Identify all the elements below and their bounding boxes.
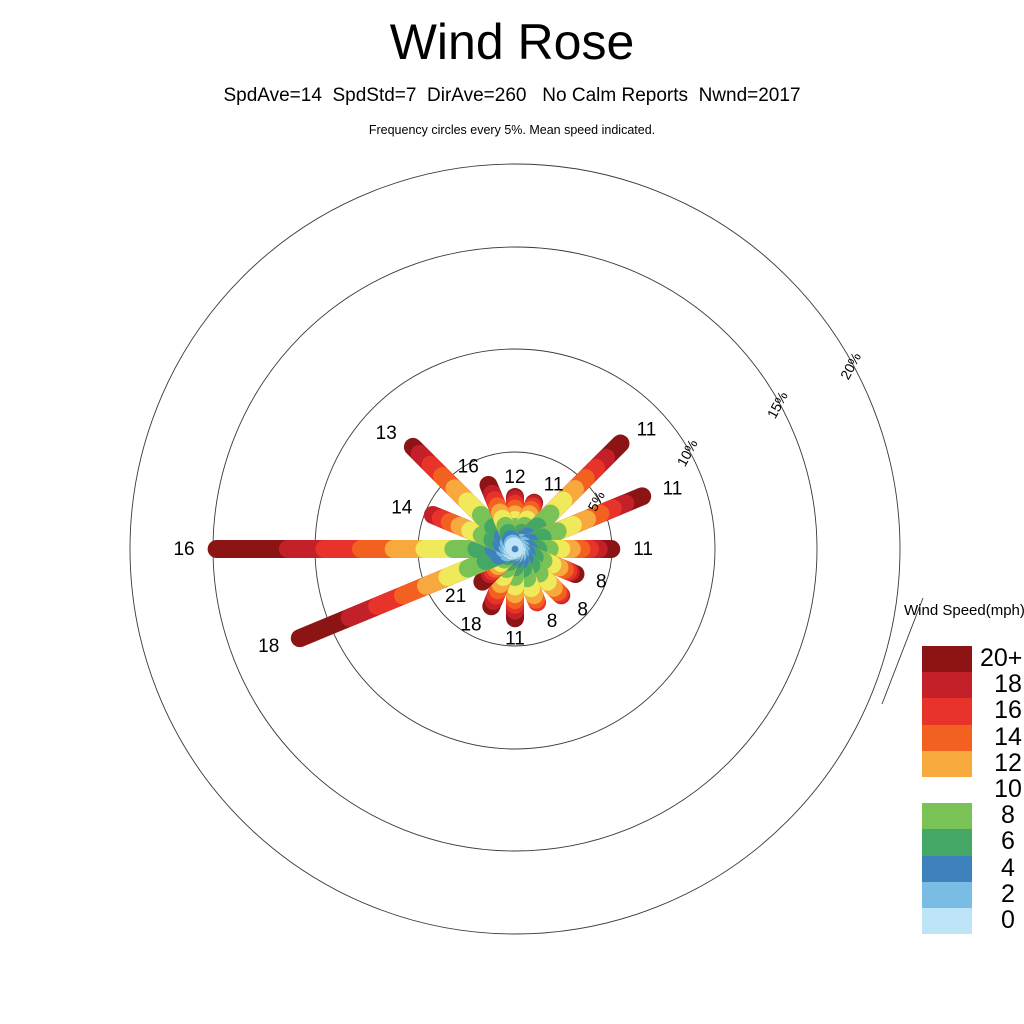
legend-swatch bbox=[922, 672, 972, 698]
legend-label: 8 bbox=[980, 801, 1024, 830]
petal-mean-speed-label: 16 bbox=[458, 456, 479, 477]
petal-mean-speed-label: 18 bbox=[258, 636, 279, 657]
petal-mean-speed-label: 18 bbox=[460, 615, 481, 636]
petal-mean-speed-label: 11 bbox=[663, 479, 683, 500]
legend-swatch bbox=[922, 777, 972, 803]
legend-row: 2 bbox=[922, 882, 972, 908]
legend-label: 14 bbox=[980, 723, 1024, 752]
legend-label: 10 bbox=[980, 775, 1024, 804]
legend-row: 12 bbox=[922, 751, 972, 777]
ring-label: 10% bbox=[674, 437, 701, 469]
legend-row: 16 bbox=[922, 698, 972, 724]
legend-swatch bbox=[922, 882, 972, 908]
legend-label: 2 bbox=[980, 880, 1024, 909]
petal-mean-speed-label: 11 bbox=[544, 474, 564, 495]
ring-labels: 5%10%15%20% bbox=[584, 350, 864, 514]
legend-row: 8 bbox=[922, 803, 972, 829]
legend-row: 0 bbox=[922, 908, 972, 934]
wind-rose-plot: 5%10%15%20% 1211111111888111821181614131… bbox=[0, 0, 1024, 1024]
legend-label: 12 bbox=[980, 749, 1024, 778]
legend-swatch bbox=[922, 908, 972, 934]
legend-colorbar: 20+181614121086420 bbox=[922, 646, 972, 934]
wind-rose-page: Wind Rose SpdAve=14 SpdStd=7 DirAve=260 … bbox=[0, 0, 1024, 1024]
petal-mean-speed-label: 8 bbox=[577, 599, 588, 620]
legend-swatch bbox=[922, 646, 972, 672]
legend-title: Wind Speed(mph) bbox=[904, 602, 1024, 620]
petal-mean-speed-label: 13 bbox=[376, 423, 397, 444]
petal-mean-speed-label: 8 bbox=[596, 572, 607, 593]
petal-mean-speed-label: 11 bbox=[505, 628, 525, 649]
legend-row: 10 bbox=[922, 777, 972, 803]
petal-mean-speed-label: 11 bbox=[633, 539, 653, 560]
petal-mean-speed-label: 21 bbox=[445, 586, 466, 607]
legend-row: 6 bbox=[922, 829, 972, 855]
legend-label: 16 bbox=[980, 696, 1024, 725]
legend-swatch bbox=[922, 698, 972, 724]
legend-label: 20+ bbox=[980, 644, 1024, 673]
legend-label: 18 bbox=[980, 670, 1024, 699]
petal-mean-speed-label: 12 bbox=[504, 467, 525, 488]
legend-row: 18 bbox=[922, 672, 972, 698]
petal-mean-speed-label: 14 bbox=[391, 497, 413, 518]
petal-mean-speed-label: 8 bbox=[547, 611, 558, 632]
petal-mean-speed-label: 16 bbox=[173, 539, 194, 560]
ring-label: 20% bbox=[837, 350, 864, 382]
plot-center-hub bbox=[512, 546, 519, 553]
legend-swatch bbox=[922, 856, 972, 882]
legend-swatch bbox=[922, 751, 972, 777]
petal-mean-speed-label: 11 bbox=[637, 419, 657, 440]
legend-row: 14 bbox=[922, 725, 972, 751]
legend-row: 20+ bbox=[922, 646, 972, 672]
legend-swatch bbox=[922, 803, 972, 829]
legend-label: 6 bbox=[980, 827, 1024, 856]
legend-label: 0 bbox=[980, 906, 1024, 935]
legend-row: 4 bbox=[922, 856, 972, 882]
legend-label: 4 bbox=[980, 854, 1024, 883]
legend-swatch bbox=[922, 829, 972, 855]
ring-label: 15% bbox=[764, 389, 791, 421]
legend-swatch bbox=[922, 725, 972, 751]
